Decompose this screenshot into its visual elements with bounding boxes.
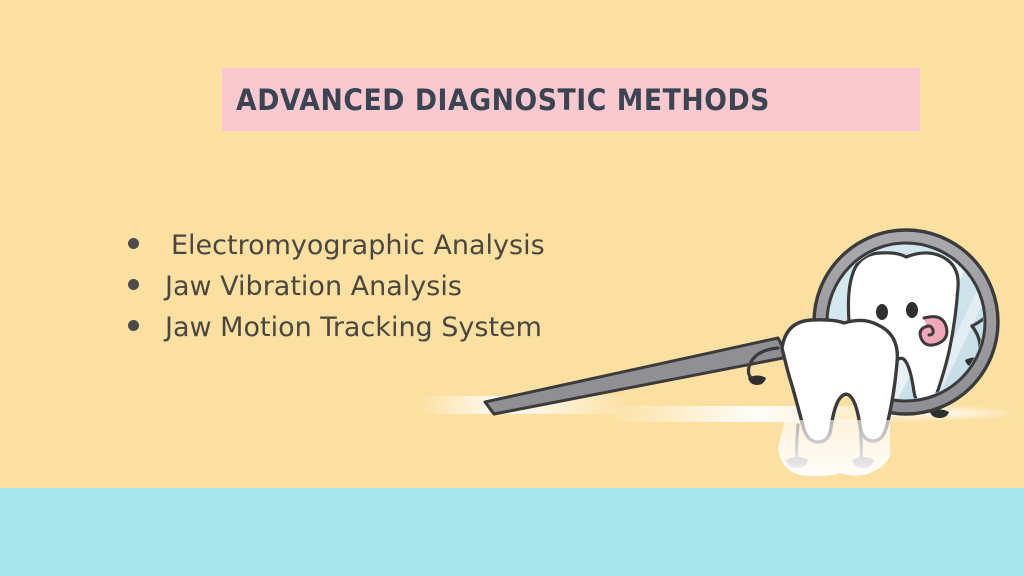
bullet-dot-icon [128,320,139,331]
foreground-tooth-hand [748,376,766,386]
reflected-tooth-eye-right [906,302,918,318]
bullet-dot-icon [128,238,139,249]
foreground-tooth-body [782,320,897,442]
foreground-tooth-foot-right [852,457,874,468]
slide-canvas: ADVANCED DIAGNOSTIC METHODS Electromyogr… [0,0,1024,576]
bullet-dot-icon [128,279,139,290]
page-title: ADVANCED DIAGNOSTIC METHODS [236,80,862,120]
mirror-handle [485,338,788,414]
reflected-tooth-eye-left [876,304,888,320]
dental-illustration [400,220,1024,576]
foreground-tooth-foot-left [786,457,808,468]
